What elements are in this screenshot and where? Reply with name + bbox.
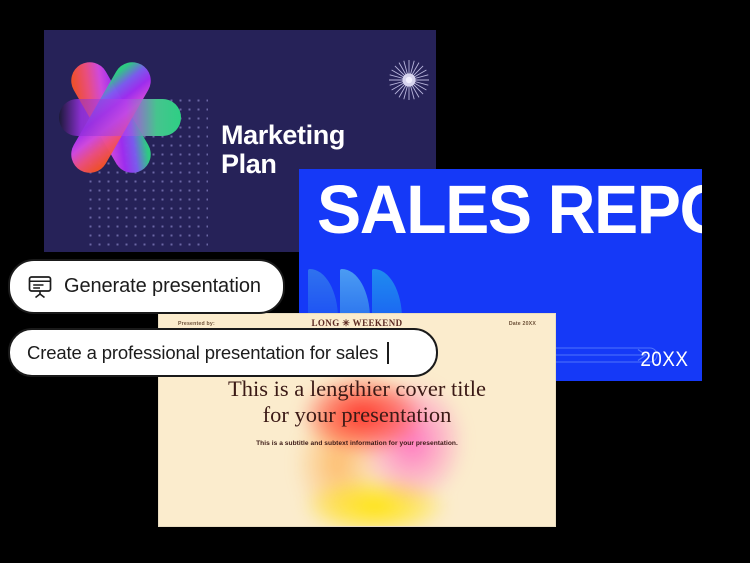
- title-line-1: Marketing: [221, 121, 345, 150]
- presentation-board-icon: [27, 274, 53, 300]
- slide-year-sales-report: 20XX: [640, 348, 688, 372]
- radial-sunburst-icon: [387, 58, 431, 102]
- text-caret: [387, 342, 389, 364]
- date-label: Date 20XX: [509, 321, 536, 327]
- generate-presentation-label: Generate presentation: [64, 275, 261, 298]
- presented-by-label: Presented by:: [178, 321, 215, 327]
- cover-title-line-2: for your presentation: [159, 402, 555, 428]
- slide-subtitle-cover: This is a subtitle and subtext informati…: [159, 440, 555, 447]
- prompt-input-value[interactable]: Create a professional presentation for s…: [27, 342, 378, 364]
- generate-presentation-button[interactable]: Generate presentation: [8, 259, 285, 314]
- prompt-input[interactable]: Create a professional presentation for s…: [8, 328, 438, 377]
- cover-title-line-1: This is a lengthier cover title: [159, 376, 555, 402]
- screenshot-stage: Marketing Plan SALES REPORT 20XX Present…: [0, 0, 750, 563]
- gradient-asterisk-flower-icon: [56, 52, 204, 180]
- slide-title-sales-report: SALES REPORT: [317, 178, 702, 243]
- slide-title-cover: This is a lengthier cover title for your…: [159, 376, 555, 429]
